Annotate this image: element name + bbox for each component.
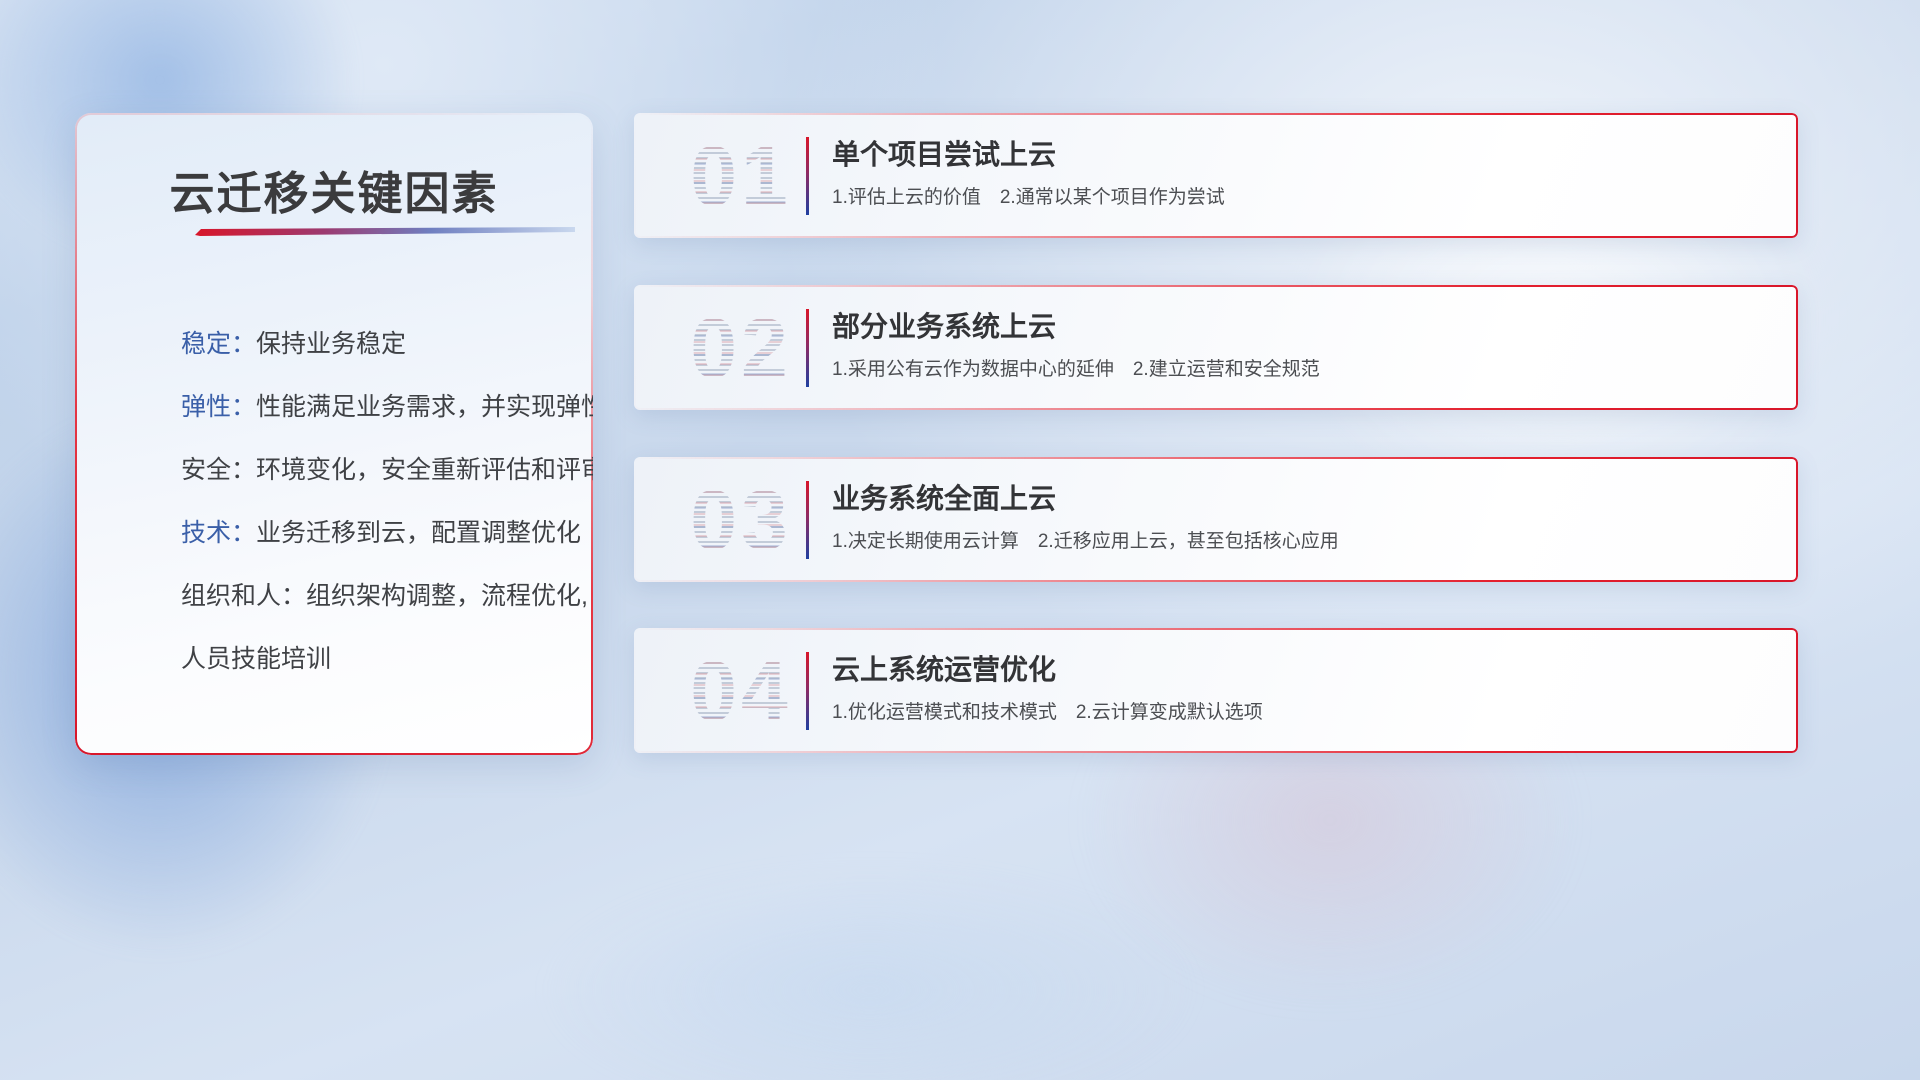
step-number-glyph-blue-scanline: 01 bbox=[656, 127, 826, 225]
list-item-label: 稳定： bbox=[181, 330, 256, 358]
step-title: 业务系统全面上云 bbox=[832, 479, 1774, 519]
list-item: 弹性：性能满足业务需求，并实现弹性 bbox=[181, 376, 567, 439]
step-card-03[interactable]: 03 03 03 业务系统全面上云 1.决定长期使用云计算 2.迁移应用上云，甚… bbox=[634, 457, 1798, 582]
step-divider-bar bbox=[806, 652, 809, 730]
list-item-text: 环境变化，安全重新评估和评审 bbox=[256, 456, 593, 484]
list-item-text: 业务迁移到云，配置调整优化 bbox=[256, 519, 581, 547]
list-item-label: 技术： bbox=[181, 519, 256, 547]
step-content: 单个项目尝试上云 1.评估上云的价值 2.通常以某个项目作为尝试 bbox=[832, 135, 1774, 215]
step-number-glyph-blue-scanline: 03 bbox=[656, 471, 826, 569]
step-title: 单个项目尝试上云 bbox=[832, 135, 1774, 175]
list-item-text: 保持业务稳定 bbox=[256, 330, 406, 358]
list-item-label: 弹性： bbox=[181, 393, 256, 421]
step-subtitle: 1.评估上云的价值 2.通常以某个项目作为尝试 bbox=[832, 181, 1774, 215]
step-title: 云上系统运营优化 bbox=[832, 650, 1774, 690]
step-divider-bar bbox=[806, 137, 809, 215]
list-item-label: 安全： bbox=[181, 456, 256, 484]
step-number-glyph-blue-scanline: 04 bbox=[656, 642, 826, 740]
key-factors-panel: 云迁移关键因素 稳定：保持业务稳定 弹性：性能满足业务需求，并实现弹性 安全：环… bbox=[75, 113, 593, 755]
background-glow-bottom bbox=[420, 820, 1320, 1080]
step-title: 部分业务系统上云 bbox=[832, 307, 1774, 347]
list-item: 安全：环境变化，安全重新评估和评审 bbox=[181, 439, 567, 502]
step-divider-bar bbox=[806, 481, 809, 559]
step-content: 云上系统运营优化 1.优化运营模式和技术模式 2.云计算变成默认选项 bbox=[832, 650, 1774, 730]
list-item-label: 组织和人： bbox=[181, 582, 306, 610]
key-factors-list: 稳定：保持业务稳定 弹性：性能满足业务需求，并实现弹性 安全：环境变化，安全重新… bbox=[181, 313, 567, 691]
panel-title: 云迁移关键因素 bbox=[75, 157, 593, 222]
step-card-04[interactable]: 04 04 04 云上系统运营优化 1.优化运营模式和技术模式 2.云计算变成默… bbox=[634, 628, 1798, 753]
step-subtitle: 1.采用公有云作为数据中心的延伸 2.建立运营和安全规范 bbox=[832, 353, 1774, 387]
step-divider-bar bbox=[806, 309, 809, 387]
list-item: 稳定：保持业务稳定 bbox=[181, 313, 567, 376]
list-item-text: 人员技能培训 bbox=[181, 645, 331, 673]
step-card-01[interactable]: 01 01 01 单个项目尝试上云 1.评估上云的价值 2.通常以某个项目作为尝… bbox=[634, 113, 1798, 238]
title-underline-rule bbox=[195, 227, 575, 236]
list-item: 技术：业务迁移到云，配置调整优化 bbox=[181, 502, 567, 565]
step-card-02[interactable]: 02 02 02 部分业务系统上云 1.采用公有云作为数据中心的延伸 2.建立运… bbox=[634, 285, 1798, 410]
list-item-text: 性能满足业务需求，并实现弹性 bbox=[256, 393, 593, 421]
list-item-text: 组织架构调整，流程优化, bbox=[306, 582, 588, 610]
step-number-glyph-blue-scanline: 02 bbox=[656, 299, 826, 397]
step-content: 部分业务系统上云 1.采用公有云作为数据中心的延伸 2.建立运营和安全规范 bbox=[832, 307, 1774, 387]
list-item-continuation: 人员技能培训 bbox=[181, 628, 567, 691]
step-content: 业务系统全面上云 1.决定长期使用云计算 2.迁移应用上云，甚至包括核心应用 bbox=[832, 479, 1774, 559]
list-item: 组织和人：组织架构调整，流程优化, bbox=[181, 565, 567, 628]
step-subtitle: 1.优化运营模式和技术模式 2.云计算变成默认选项 bbox=[832, 696, 1774, 730]
step-subtitle: 1.决定长期使用云计算 2.迁移应用上云，甚至包括核心应用 bbox=[832, 525, 1774, 559]
